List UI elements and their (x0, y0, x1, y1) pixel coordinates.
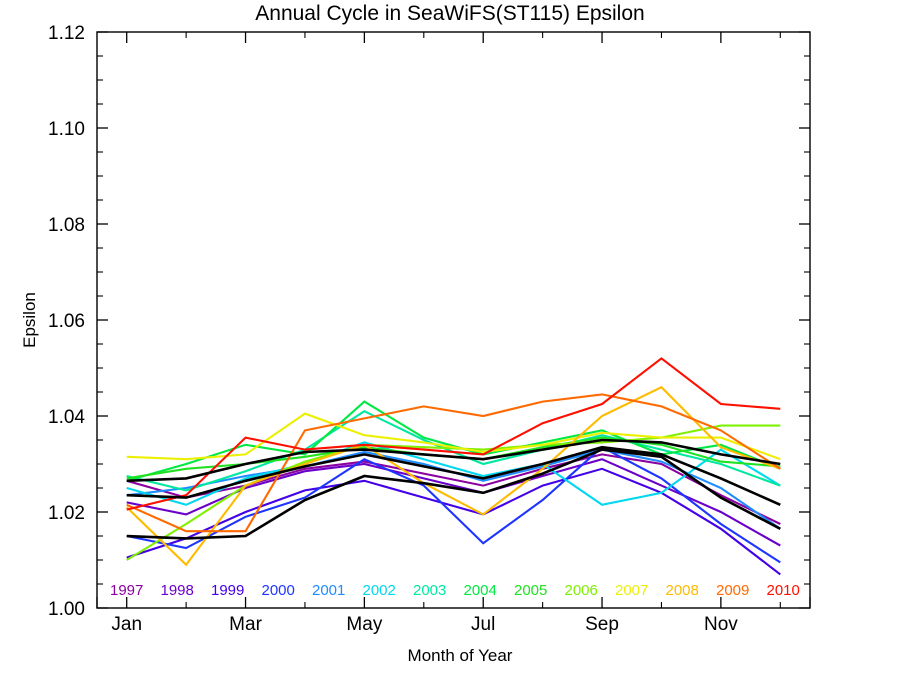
legend-year-2003: 2003 (413, 582, 446, 599)
series-lines-layer (127, 358, 781, 574)
legend-year-1997: 1997 (110, 582, 143, 599)
legend-year-2004: 2004 (464, 582, 497, 599)
legend-year-2007: 2007 (615, 582, 648, 599)
y-tick-label: 1.04 (48, 407, 85, 428)
legend-year-1999: 1999 (211, 582, 244, 599)
x-tick-label: Mar (229, 614, 262, 635)
y-tick-label: 1.00 (48, 599, 85, 620)
legend-year-2009: 2009 (716, 582, 749, 599)
legend-year-2006: 2006 (565, 582, 598, 599)
x-tick-label: Jan (111, 614, 142, 635)
legend-year-2008: 2008 (666, 582, 699, 599)
x-tick-label: Sep (585, 614, 619, 635)
x-axis-label: Month of Year (408, 646, 513, 665)
x-axis-tick-labels: JanMarMayJulSepNov (111, 614, 738, 635)
y-tick-label: 1.12 (48, 23, 85, 44)
legend-year-2005: 2005 (514, 582, 547, 599)
x-tick-label: May (346, 614, 382, 635)
legend-year-1998: 1998 (161, 582, 194, 599)
legend-year-2001: 2001 (312, 582, 345, 599)
x-tick-label: Nov (704, 614, 738, 635)
year-legend: 1997199819992000200120022003200420052006… (110, 582, 800, 599)
y-tick-label: 1.06 (48, 311, 85, 332)
legend-year-2002: 2002 (363, 582, 396, 599)
annual-cycle-plot: 1.001.021.041.061.081.101.12 JanMarMayJu… (0, 0, 900, 675)
y-axis-label: Epsilon (20, 292, 39, 348)
legend-year-2010: 2010 (767, 582, 800, 599)
y-tick-label: 1.02 (48, 503, 85, 524)
legend-year-2000: 2000 (262, 582, 295, 599)
y-axis-tick-labels: 1.001.021.041.061.081.101.12 (48, 23, 85, 620)
x-tick-label: Jul (471, 614, 495, 635)
plot-frame (97, 32, 810, 608)
y-tick-label: 1.08 (48, 215, 85, 236)
chart-page: Annual Cycle in SeaWiFS(ST115) Epsilon 1… (0, 0, 900, 675)
y-tick-label: 1.10 (48, 119, 85, 140)
axis-tick-layer (97, 32, 810, 608)
